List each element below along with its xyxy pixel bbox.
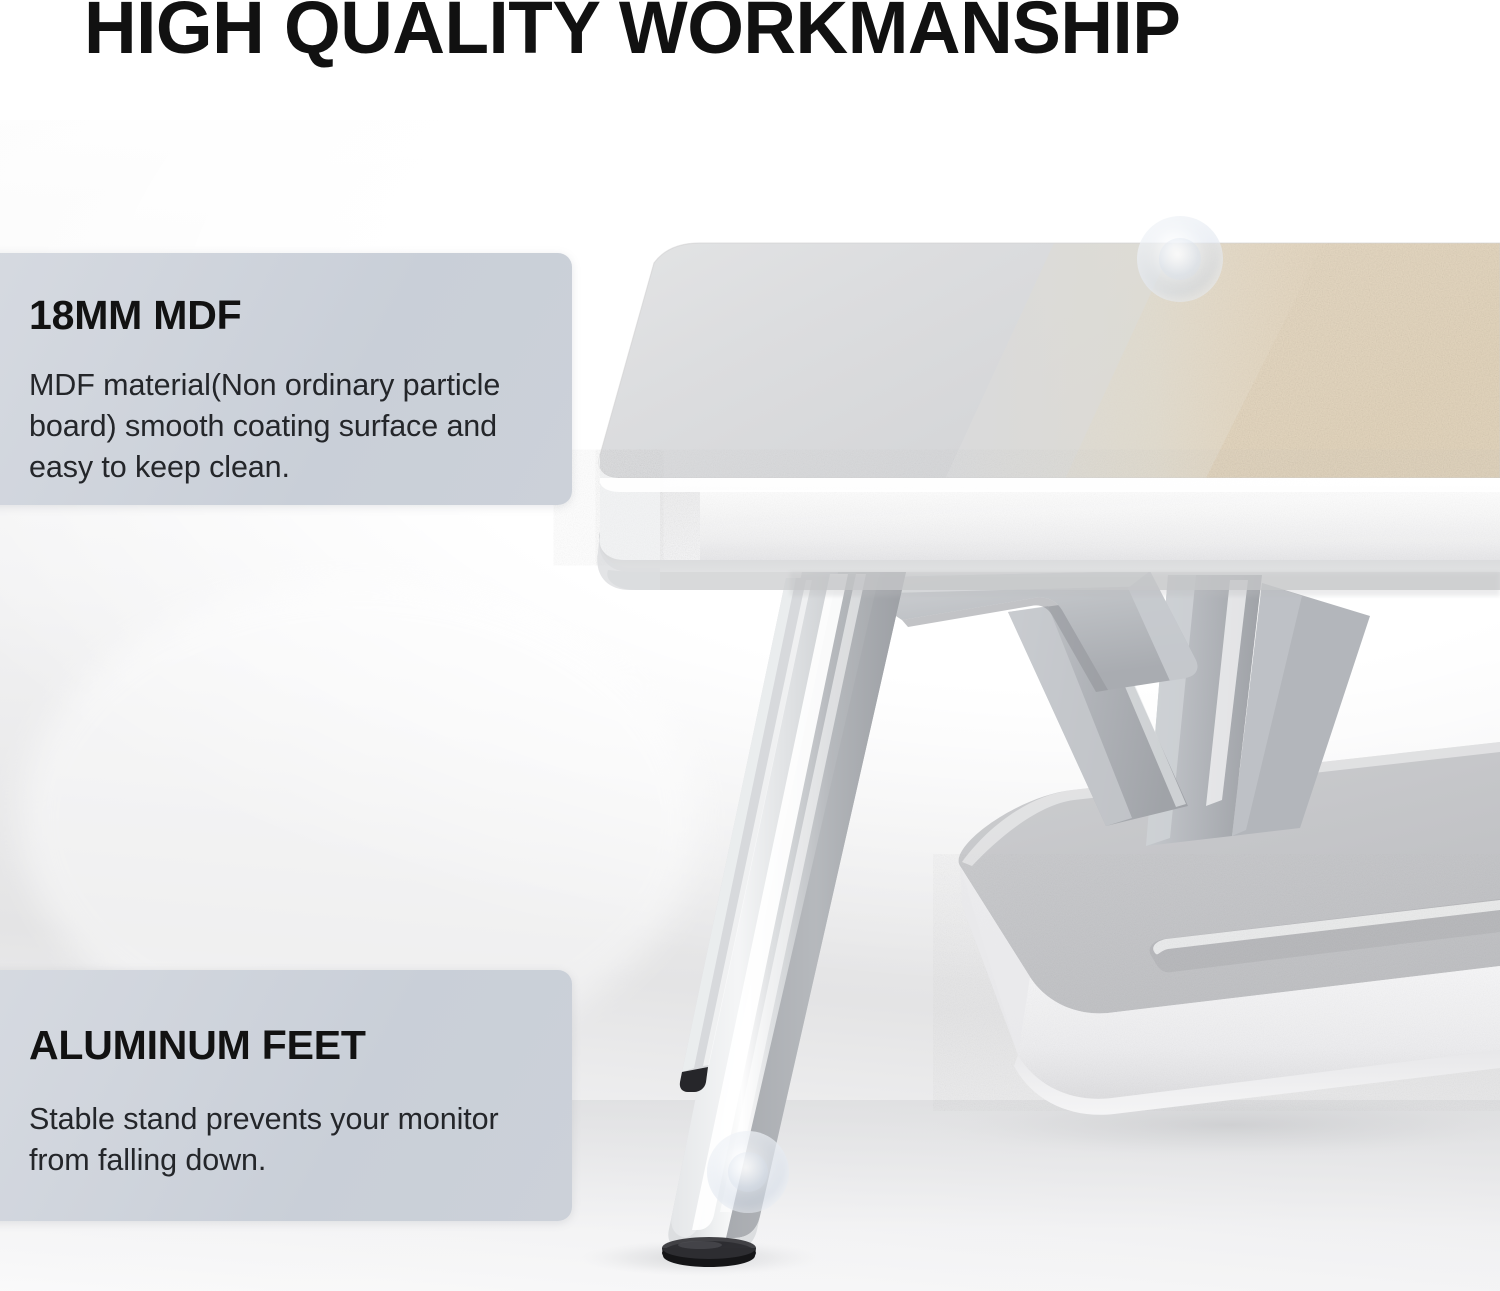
- product-feature-poster: HIGH QUALITY WORKMANSHIP: [0, 0, 1500, 1291]
- callout-title-aluminum-feet: ALUMINUM FEET: [29, 970, 548, 1066]
- callout-card-mdf: 18MM MDF MDF material(Non ordinary parti…: [0, 253, 572, 505]
- callout-card-aluminum-feet: ALUMINUM FEET Stable stand prevents your…: [0, 970, 572, 1221]
- callout-body-aluminum-feet: Stable stand prevents your monitor from …: [29, 1066, 548, 1181]
- callout-body-mdf: MDF material(Non ordinary particle board…: [29, 336, 548, 488]
- hotspot-marker-foot[interactable]: [707, 1131, 789, 1213]
- rubber-foot-pad: [662, 1237, 756, 1267]
- tabletop-mdf-panel: [560, 230, 1500, 590]
- hotspot-marker-tabletop[interactable]: [1137, 216, 1223, 302]
- callout-title-mdf: 18MM MDF: [29, 253, 548, 336]
